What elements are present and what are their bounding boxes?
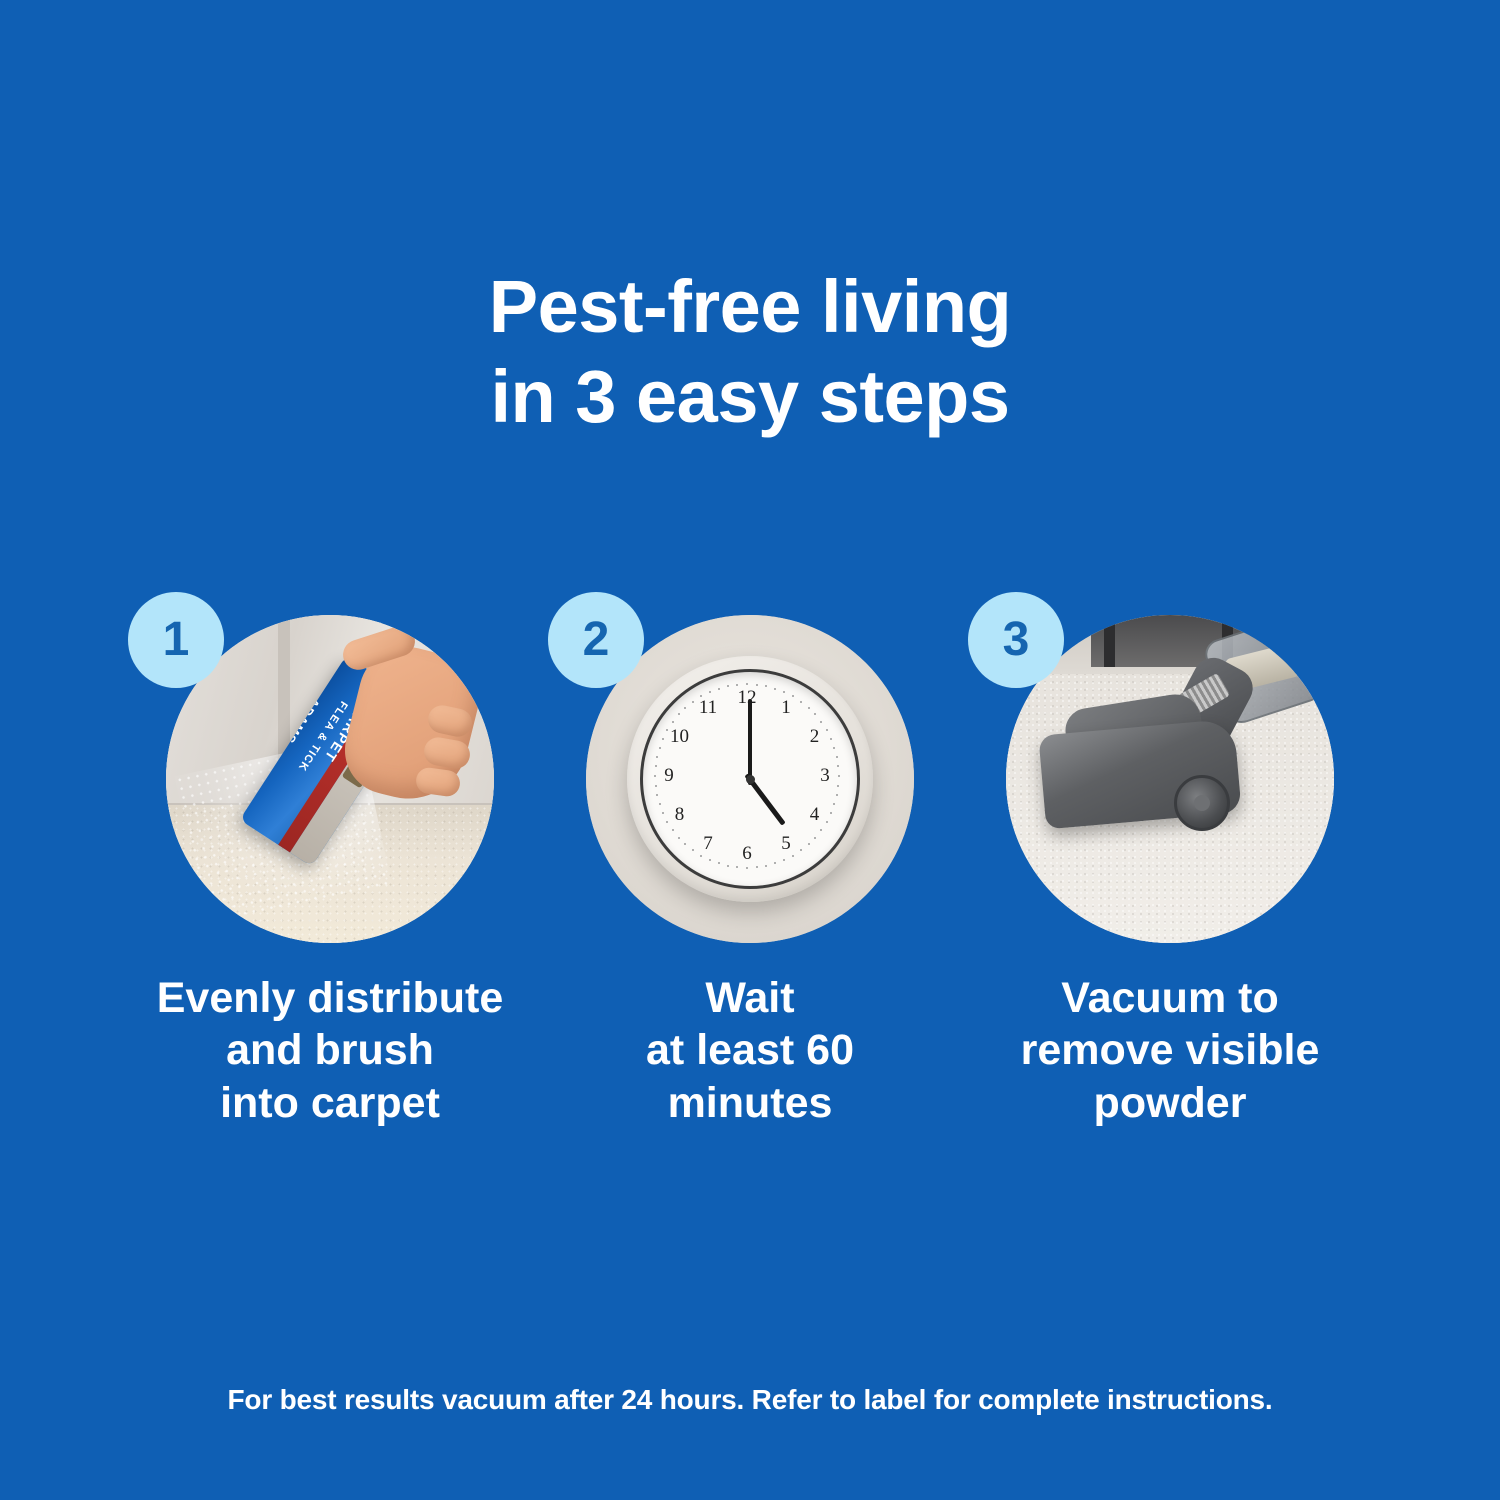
- step-3: 3 Vacuum to remove visibl: [960, 590, 1380, 1129]
- step-3-number-badge: 3: [968, 592, 1064, 688]
- clock-minute-dot: [814, 713, 816, 715]
- clock-minute-dot: [820, 829, 822, 831]
- clock-minute-dot: [684, 843, 686, 845]
- step-1: 1 ADAMS FLEA & TICK CARPET: [120, 590, 540, 1129]
- clock-numeral-6: 6: [742, 843, 752, 865]
- page-title-line-1: Pest-free living: [0, 262, 1500, 352]
- step-3-caption: Vacuum to remove visible powder: [955, 972, 1385, 1129]
- clock-minute-dot: [792, 695, 794, 697]
- clock-minute-dot: [836, 756, 838, 758]
- clock-numeral-10: 10: [670, 726, 689, 748]
- step-2: 2 121234567891011 Wait at least 60: [540, 590, 960, 1129]
- clock-minute-dot: [700, 855, 702, 857]
- step-1-caption-line-3: into carpet: [115, 1077, 545, 1129]
- clock-minute-dot: [662, 812, 664, 814]
- clock-minute-dot: [662, 738, 664, 740]
- clock-minute-dot: [692, 849, 694, 851]
- clock-minute-dot: [718, 862, 720, 864]
- vacuum-wheel: [1174, 775, 1230, 831]
- clock-minute-dot: [684, 707, 686, 709]
- clock-numeral-7: 7: [703, 833, 713, 855]
- clock-minute-dot: [709, 691, 711, 693]
- clock-minute-dot: [718, 688, 720, 690]
- clock-minute-dot: [672, 721, 674, 723]
- clock-minute-dot: [756, 684, 758, 686]
- clock-minute-dot: [838, 775, 840, 777]
- clock-minute-dot: [836, 794, 838, 796]
- footer-disclaimer: For best results vacuum after 24 hours. …: [0, 1384, 1500, 1416]
- clock-numeral-8: 8: [675, 804, 685, 826]
- clock-minute-dot: [746, 683, 748, 685]
- clock-minute-dot: [837, 765, 839, 767]
- clock-minute-dot: [746, 867, 748, 869]
- clock-minute-dot: [736, 866, 738, 868]
- clock-minute-dot: [756, 866, 758, 868]
- step-3-image-wrap: 3: [960, 590, 1380, 940]
- clock-minute-dot: [765, 685, 767, 687]
- furniture-leg-1: [1104, 615, 1115, 667]
- clock-numeral-5: 5: [781, 833, 791, 855]
- step-1-image-wrap: 1 ADAMS FLEA & TICK CARPET: [120, 590, 540, 940]
- clock-minute-dot: [700, 695, 702, 697]
- clock-minute-dot: [709, 859, 711, 861]
- clock-bezel: 121234567891011: [640, 669, 860, 889]
- clock-minute-dot: [774, 688, 776, 690]
- clock-numeral-4: 4: [810, 804, 820, 826]
- step-1-number-badge: 1: [128, 592, 224, 688]
- clock-minute-dot: [659, 803, 661, 805]
- clock-minute-dot: [800, 701, 802, 703]
- steps-row: 1 ADAMS FLEA & TICK CARPET: [0, 590, 1500, 1129]
- clock-numeral-1: 1: [781, 697, 791, 719]
- step-3-caption-line-2: remove visible: [955, 1024, 1385, 1076]
- clock-minute-dot: [655, 765, 657, 767]
- clock-numeral-3: 3: [820, 765, 830, 787]
- clock-minute-dot: [672, 829, 674, 831]
- clock-numeral-12: 12: [738, 687, 757, 709]
- clock-minute-dot: [765, 865, 767, 867]
- clock-minute-dot: [655, 785, 657, 787]
- clock-minute-dot: [808, 843, 810, 845]
- step-2-caption-line-3: minutes: [535, 1077, 965, 1129]
- clock-minute-dot: [783, 691, 785, 693]
- clock-minute-dot: [727, 685, 729, 687]
- step-2-image-wrap: 2 121234567891011: [540, 590, 960, 940]
- step-1-caption: Evenly distribute and brush into carpet: [115, 972, 545, 1129]
- clock-minute-dot: [727, 865, 729, 867]
- clock-minute-dot: [820, 721, 822, 723]
- clock-minute-dot: [666, 729, 668, 731]
- clock-minute-dot: [666, 821, 668, 823]
- step-3-caption-line-3: powder: [955, 1077, 1385, 1129]
- clock-center-pin: [746, 775, 755, 784]
- clock-minute-dot: [678, 837, 680, 839]
- clock-minute-dot: [774, 862, 776, 864]
- clock-minute-dot: [837, 785, 839, 787]
- clock-minute-dot: [656, 794, 658, 796]
- step-1-caption-line-1: Evenly distribute: [115, 972, 545, 1024]
- clock-minute-dot: [736, 684, 738, 686]
- step-1-caption-line-2: and brush: [115, 1024, 545, 1076]
- clock-minute-dot: [814, 837, 816, 839]
- clock-minute-dot: [826, 729, 828, 731]
- clock-minute-dot: [833, 747, 835, 749]
- step-2-caption-line-2: at least 60: [535, 1024, 965, 1076]
- step-2-number-badge: 2: [548, 592, 644, 688]
- clock-minute-dot: [833, 803, 835, 805]
- clock-minute-dot: [792, 855, 794, 857]
- clock-minute-dot: [830, 812, 832, 814]
- clock-minute-dot: [692, 701, 694, 703]
- clock-numeral-2: 2: [810, 726, 820, 748]
- clock-numeral-9: 9: [664, 765, 674, 787]
- step-2-caption-line-1: Wait: [535, 972, 965, 1024]
- clock-minute-dot: [656, 756, 658, 758]
- clock-minute-dot: [800, 849, 802, 851]
- page-title-line-2: in 3 easy steps: [0, 352, 1500, 442]
- clock-minute-dot: [808, 707, 810, 709]
- clock-minute-dot: [654, 775, 656, 777]
- clock-minute-dot: [830, 738, 832, 740]
- clock-minute-dot: [678, 713, 680, 715]
- clock-minute-hand: [748, 699, 752, 785]
- step-3-caption-line-1: Vacuum to: [955, 972, 1385, 1024]
- step-2-caption: Wait at least 60 minutes: [535, 972, 965, 1129]
- clock-minute-dot: [826, 821, 828, 823]
- clock-frame: 121234567891011: [627, 656, 873, 902]
- clock-numeral-11: 11: [699, 697, 717, 719]
- clock-minute-dot: [659, 747, 661, 749]
- page-title: Pest-free living in 3 easy steps: [0, 262, 1500, 443]
- clock-minute-dot: [783, 859, 785, 861]
